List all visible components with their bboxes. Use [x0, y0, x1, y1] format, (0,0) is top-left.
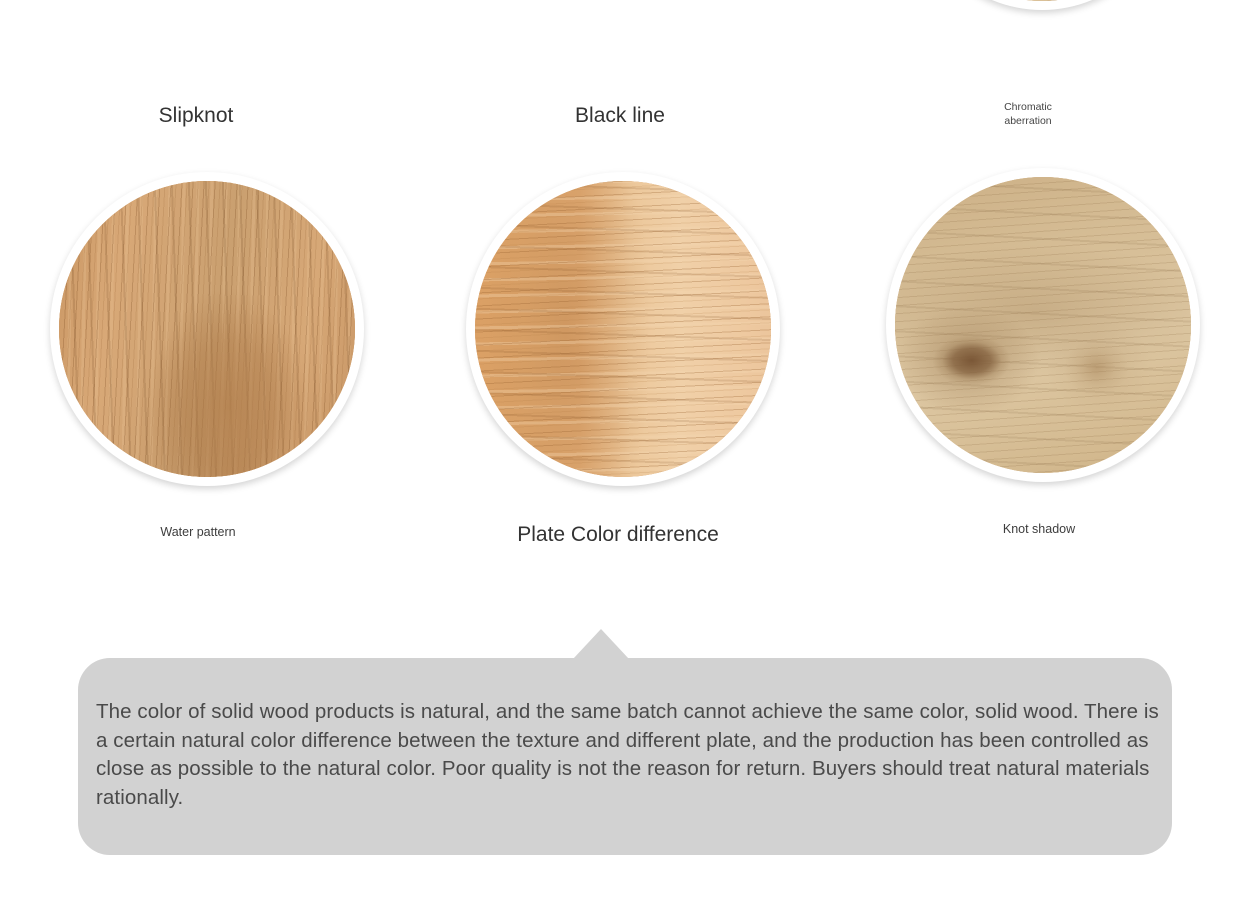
disclaimer-text: The color of solid wood products is natu…: [96, 698, 1160, 812]
wood-swatch-water-pattern: [59, 181, 355, 477]
wood-texture-knot-shadow: [895, 177, 1191, 473]
wood-sample-water-pattern: [50, 172, 364, 486]
wood-sample-plate-color-difference: [466, 172, 780, 486]
wood-texture-chromatic-aberration: [921, 0, 1163, 1]
wood-texture-plate-color-difference: [475, 181, 771, 477]
callout-tail-icon: [573, 629, 629, 659]
wood-texture-water-pattern: [59, 181, 355, 477]
wood-swatch-plate-color-difference: [475, 181, 771, 477]
caption-slipknot: Slipknot: [96, 102, 296, 129]
caption-chromatic-aberration: Chromatic aberration: [958, 100, 1098, 128]
wood-sample-chromatic-aberration: [912, 0, 1172, 10]
wood-sample-knot-shadow: [886, 168, 1200, 482]
caption-plate-color-difference: Plate Color difference: [473, 521, 763, 548]
caption-water-pattern: Water pattern: [98, 524, 298, 540]
caption-knot-shadow: Knot shadow: [943, 521, 1135, 537]
caption-black-line: Black line: [520, 102, 720, 129]
wood-swatch-chromatic-aberration: [921, 0, 1163, 1]
wood-swatch-knot-shadow: [895, 177, 1191, 473]
